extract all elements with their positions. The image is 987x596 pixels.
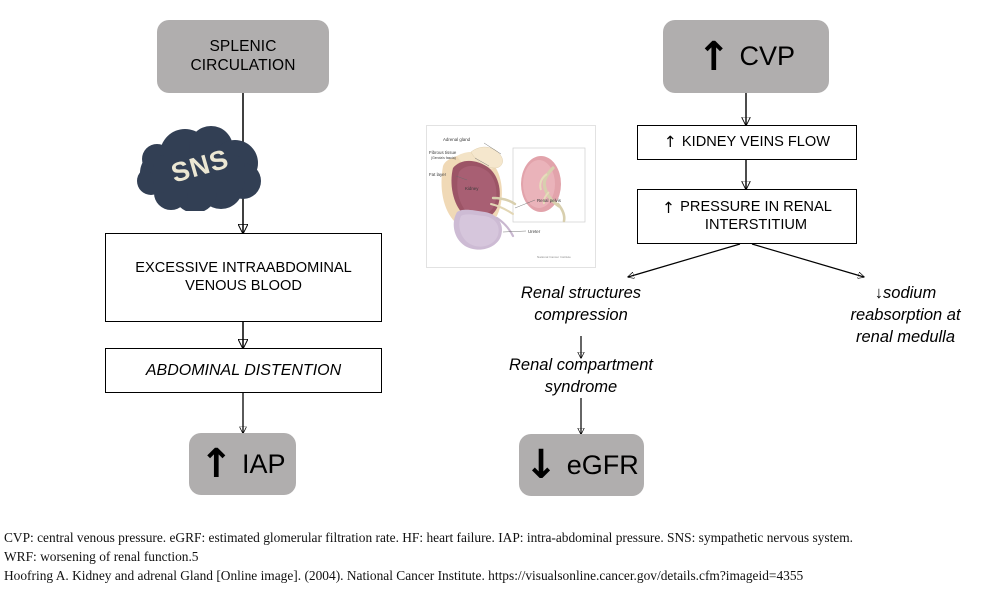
label-credit: National Cancer Institute (537, 255, 571, 259)
caption-line-abbreviations-2: WRF: worsening of renal function.5 (4, 547, 982, 566)
caption-line-abbreviations-1: CVP: central venous pressure. eGRF: esti… (4, 528, 982, 547)
caption-line-source: Hoofring A. Kidney and adrenal Gland [On… (4, 566, 982, 585)
node-abdominal-distention[interactable]: ABDOMINAL DISTENTION (105, 348, 382, 393)
node-cvp-label: CVP (739, 43, 795, 70)
node-excessive-venous-blood[interactable]: EXCESSIVE INTRAABDOMINAL VENOUS BLOOD (105, 233, 382, 322)
label-adrenal-gland: Adrenal gland (443, 137, 471, 142)
node-excessive-venous-blood-label: EXCESSIVE INTRAABDOMINAL VENOUS BLOOD (135, 260, 352, 296)
caption-block: CVP: central venous pressure. eGRF: esti… (4, 528, 982, 585)
node-cvp[interactable]: ↑ CVP (663, 20, 829, 93)
node-pressure-renal-interstitium-label: PRESSURE IN RENAL INTERSTITIUM (680, 199, 832, 235)
node-splenic-circulation[interactable]: SPLENIC CIRCULATION (157, 20, 329, 93)
up-arrow-icon: ↑ (662, 199, 675, 218)
node-pressure-renal-interstitium[interactable]: ↑ PRESSURE IN RENAL INTERSTITIUM (637, 189, 857, 244)
node-iap-label: IAP (242, 451, 286, 478)
text-sodium-reabsorption: ↓sodium reabsorption at renal medulla (828, 283, 983, 348)
label-kidney: Kidney (465, 186, 479, 191)
label-fibrous-tissue-sub: (Gerota's fascia) (431, 156, 456, 160)
node-egfr-label: eGFR (567, 452, 639, 479)
kidney-anatomy-figure: Adrenal gland Fibrous tissue (Gerota's f… (426, 125, 596, 268)
text-renal-compartment-syndrome: Renal compartment syndrome (486, 355, 676, 399)
up-arrow-icon: ↑ (697, 41, 731, 73)
node-iap[interactable]: ↑ IAP (189, 433, 296, 495)
text-renal-structures-compression: Renal structures compression (491, 283, 671, 327)
diagram-canvas: SNS SPLENIC CIRCULATION EXCESSIVE INTRAA… (0, 0, 987, 596)
up-arrow-icon: ↑ (664, 133, 677, 152)
up-arrow-icon: ↑ (199, 448, 233, 480)
sns-cloud-node: SNS (133, 121, 267, 211)
label-ureter: Ureter (528, 229, 541, 234)
label-fat-layer: Fat layer (429, 172, 447, 177)
node-splenic-circulation-label: SPLENIC CIRCULATION (190, 38, 295, 76)
arrow-pressure-to-sodium (752, 244, 864, 277)
node-kidney-veins-flow-label: KIDNEY VEINS FLOW (682, 134, 830, 152)
node-egfr[interactable]: ↓ eGFR (519, 434, 644, 496)
kidney-illustration: Adrenal gland Fibrous tissue (Gerota's f… (427, 126, 593, 265)
node-abdominal-distention-label: ABDOMINAL DISTENTION (146, 361, 341, 381)
node-kidney-veins-flow[interactable]: ↑ KIDNEY VEINS FLOW (637, 125, 857, 160)
down-arrow-icon: ↓ (524, 449, 558, 481)
label-renal-pelvis: Renal pelvis (537, 198, 562, 203)
label-fibrous-tissue: Fibrous tissue (429, 150, 457, 155)
arrow-pressure-to-compression (628, 244, 740, 277)
